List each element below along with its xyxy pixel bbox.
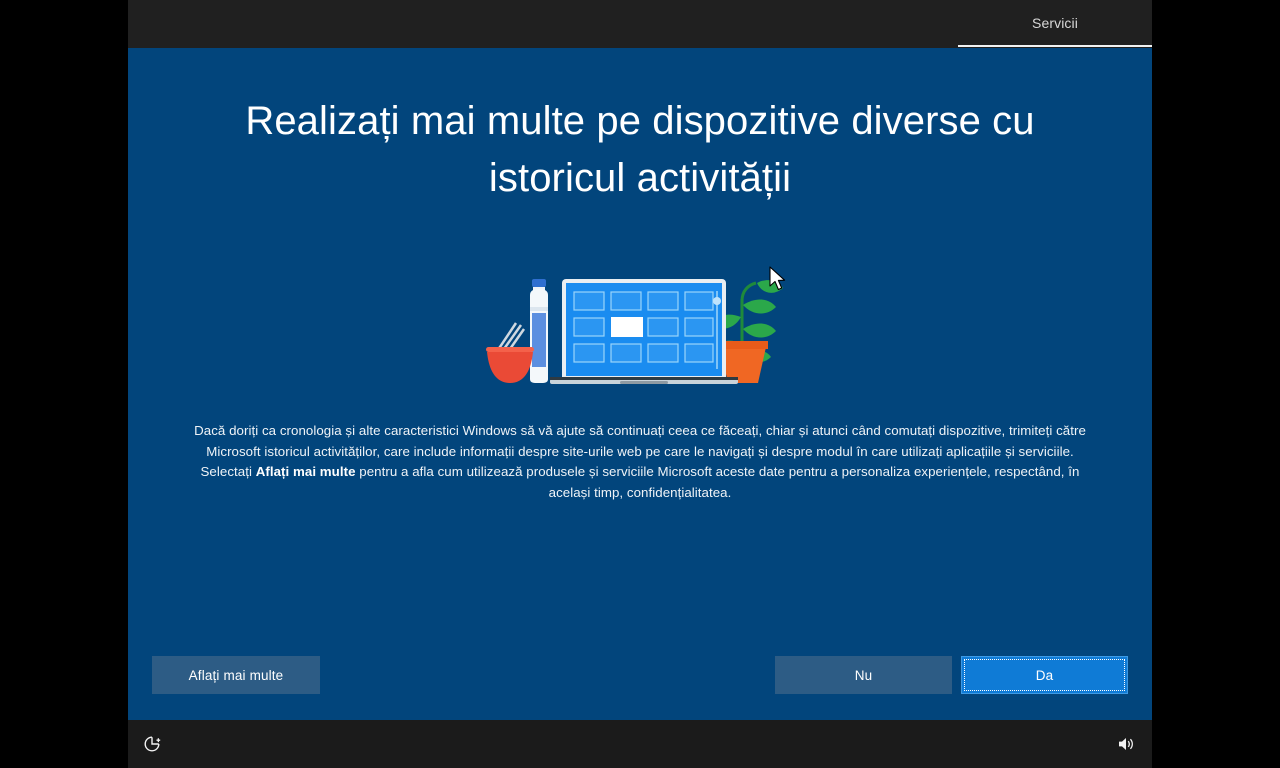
activity-history-illustration xyxy=(480,255,800,395)
content-canvas: Realizați mai multe pe dispozitive diver… xyxy=(128,48,1152,720)
screen-root: Servicii Realizați mai multe pe dispozit… xyxy=(0,0,1280,768)
body-text-emphasis: Aflați mai multe xyxy=(256,464,356,479)
tab-selected-underline xyxy=(958,45,1152,47)
water-bottle xyxy=(530,279,548,383)
title-bar: Servicii xyxy=(128,0,1152,48)
yes-button[interactable]: Da xyxy=(961,656,1128,694)
letterbox-right xyxy=(1152,0,1280,768)
bottom-action-bar xyxy=(128,720,1152,768)
learn-more-button[interactable]: Aflați mai multe xyxy=(152,656,320,694)
noodle-bowl xyxy=(486,323,534,383)
oobe-window: Servicii Realizați mai multe pe dispozit… xyxy=(128,0,1152,768)
ease-of-access-icon[interactable] xyxy=(140,732,164,756)
no-button[interactable]: Nu xyxy=(775,656,952,694)
laptop xyxy=(550,279,738,384)
body-paragraph: Dacă doriți ca cronologia și alte caract… xyxy=(184,421,1096,503)
volume-speaker-icon[interactable] xyxy=(1114,732,1138,756)
tab-servicii[interactable]: Servicii xyxy=(958,0,1152,48)
page-title: Realizați mai multe pe dispozitive diver… xyxy=(190,93,1090,207)
letterbox-left xyxy=(0,0,128,768)
body-text-part2: pentru a afla cum utilizează produsele ș… xyxy=(356,464,1080,500)
tab-servicii-label: Servicii xyxy=(1032,16,1078,33)
